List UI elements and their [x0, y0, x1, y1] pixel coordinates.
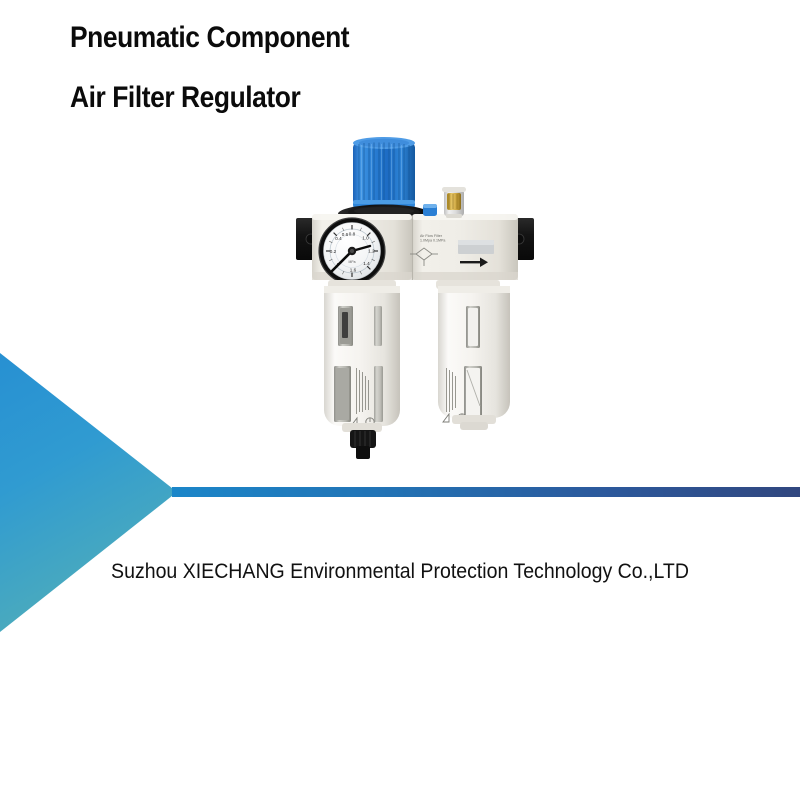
pressure-gauge: 0.8 1.0 1.2 1.4 1.6 0 0.2 0.4 0.6 MPa	[319, 218, 385, 284]
product-image: 0.8 1.0 1.2 1.4 1.6 0 0.2 0.4 0.6 MPa	[290, 130, 540, 480]
svg-text:1.0: 1.0	[362, 236, 369, 241]
manual-drain-valve	[350, 430, 376, 459]
poster-page: Pneumatic Component Air Filter Regulator	[0, 0, 800, 800]
blue-adjustment-knob	[353, 137, 415, 209]
svg-text:1.0Mpa 0.1MPa: 1.0Mpa 0.1MPa	[420, 239, 445, 243]
svg-text:1.2: 1.2	[368, 249, 375, 254]
filter-bowl	[324, 286, 400, 432]
title-line-1: Pneumatic Component	[70, 18, 598, 58]
svg-text:1.4: 1.4	[363, 261, 370, 266]
svg-text:0.2: 0.2	[330, 249, 337, 254]
lubricator-bowl	[438, 286, 510, 430]
svg-text:MPa: MPa	[349, 260, 356, 264]
svg-text:0.6: 0.6	[342, 232, 349, 237]
svg-text:0.8: 0.8	[349, 232, 356, 237]
arrow-bar	[172, 487, 800, 497]
page-title: Pneumatic Component Air Filter Regulator	[70, 18, 670, 118]
arrow-triangle	[0, 353, 177, 632]
blue-fill-cap	[423, 204, 437, 216]
company-name: Suzhou XIECHANG Environmental Protection…	[28, 560, 772, 584]
svg-text:Air Flow Filter: Air Flow Filter	[420, 234, 443, 238]
oiler-sight-dome	[442, 187, 466, 218]
title-line-2: Air Filter Regulator	[70, 78, 598, 118]
svg-text:1.6: 1.6	[350, 268, 357, 273]
